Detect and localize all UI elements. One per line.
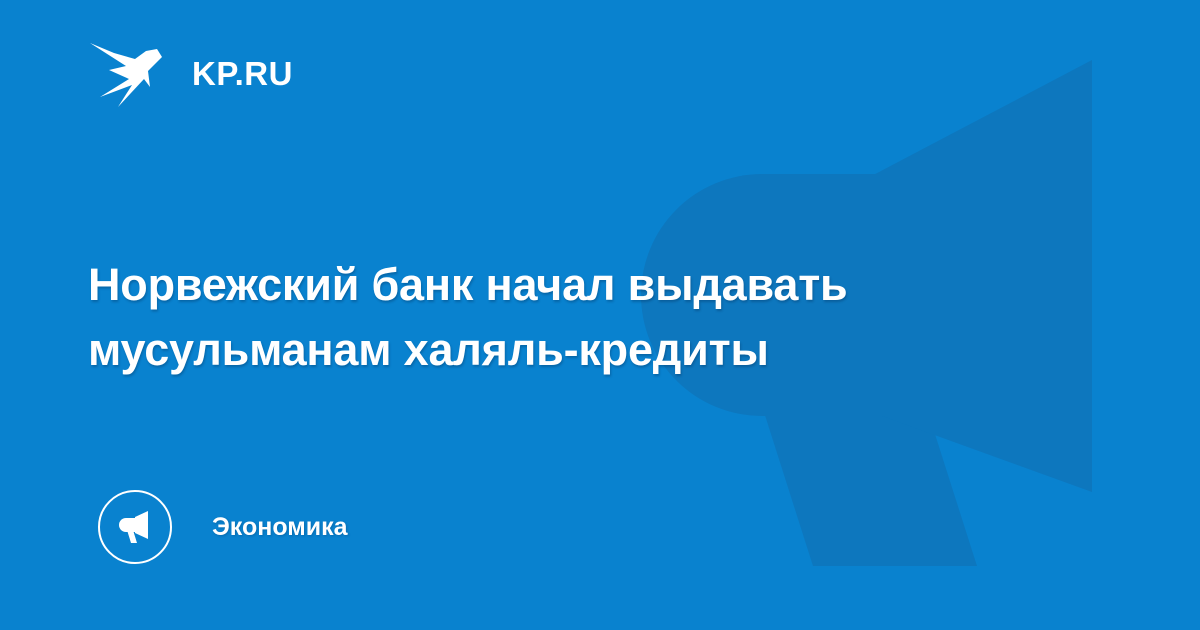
- brand-wordmark[interactable]: KP.RU: [192, 57, 293, 90]
- category-badge-group[interactable]: Экономика: [98, 489, 348, 565]
- site-header: KP.RU: [88, 34, 293, 112]
- headline: Норвежский банк начал выдавать мусульман…: [88, 252, 1098, 382]
- category-icon-circle: [98, 490, 172, 564]
- category-label[interactable]: Экономика: [212, 515, 348, 540]
- megaphone-icon: [115, 507, 155, 547]
- share-card: KP.RU Норвежский банк начал выдавать мус…: [0, 0, 1200, 630]
- swallow-bird-icon[interactable]: [88, 35, 166, 111]
